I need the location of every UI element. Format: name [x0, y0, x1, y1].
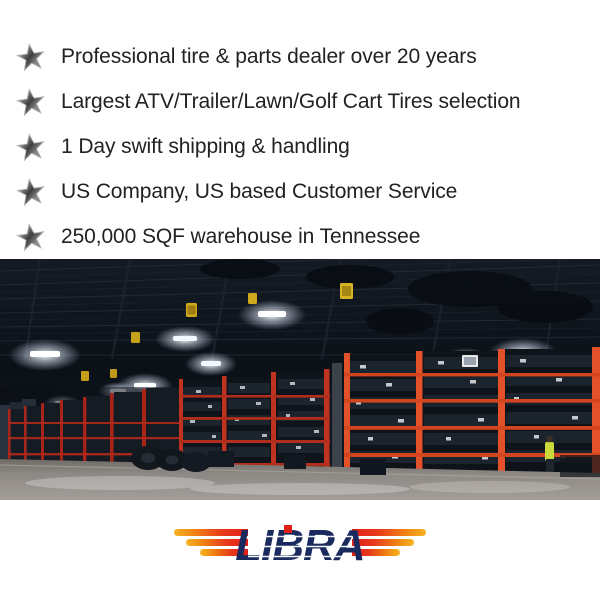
- star-icon: [16, 132, 46, 162]
- logo-accent-square: [284, 525, 292, 533]
- logo-wordmark: LIBRA: [235, 521, 364, 570]
- warehouse-photo-graphic: [0, 259, 600, 500]
- warehouse-photo: [0, 259, 600, 500]
- feature-label: US Company, US based Customer Service: [61, 181, 457, 202]
- feature-label: Largest ATV/Trailer/Lawn/Golf Cart Tires…: [61, 91, 521, 112]
- star-icon: [16, 222, 46, 252]
- star-icon: [16, 177, 46, 207]
- feature-item: Professional tire & parts dealer over 20…: [0, 34, 600, 79]
- star-icon: [16, 42, 46, 72]
- libra-logo[interactable]: LIBRA: [172, 515, 428, 573]
- feature-item: Largest ATV/Trailer/Lawn/Golf Cart Tires…: [0, 79, 600, 124]
- feature-item: US Company, US based Customer Service: [0, 169, 600, 214]
- star-icon: [16, 87, 46, 117]
- feature-list: Professional tire & parts dealer over 20…: [0, 0, 600, 259]
- feature-label: 250,000 SQF warehouse in Tennessee: [61, 226, 420, 247]
- feature-item: 1 Day swift shipping & handling: [0, 124, 600, 169]
- logo-text: LIBRA: [235, 521, 364, 570]
- logo-area: LIBRA: [0, 500, 600, 588]
- feature-item: 250,000 SQF warehouse in Tennessee: [0, 214, 600, 259]
- feature-label: Professional tire & parts dealer over 20…: [61, 46, 477, 67]
- feature-label: 1 Day swift shipping & handling: [61, 136, 350, 157]
